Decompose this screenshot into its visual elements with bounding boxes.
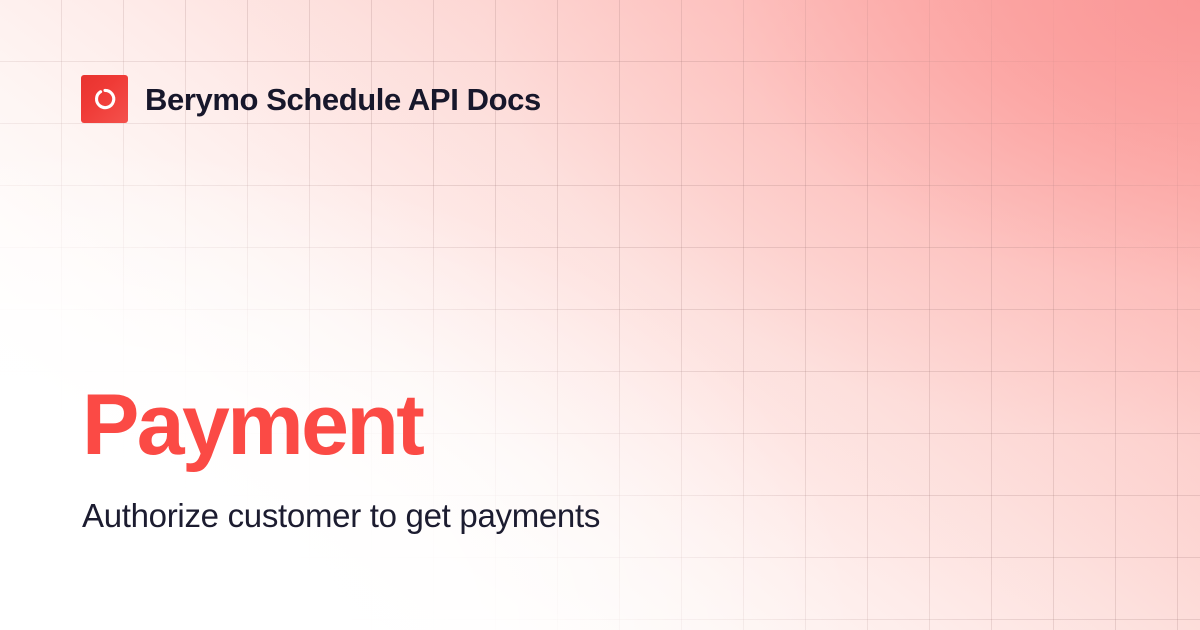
card-content: Berymo Schedule API Docs Payment Authori… bbox=[0, 0, 1200, 630]
brand-lockup: Berymo Schedule API Docs bbox=[81, 75, 541, 123]
brand-name: Berymo Schedule API Docs bbox=[145, 84, 541, 115]
page-subtitle: Authorize customer to get payments bbox=[82, 498, 600, 534]
hero-block: Payment Authorize customer to get paymen… bbox=[82, 382, 600, 534]
power-reset-circle-icon bbox=[81, 75, 128, 123]
page-title: Payment bbox=[82, 382, 600, 468]
og-preview-card: Berymo Schedule API Docs Payment Authori… bbox=[0, 0, 1200, 630]
